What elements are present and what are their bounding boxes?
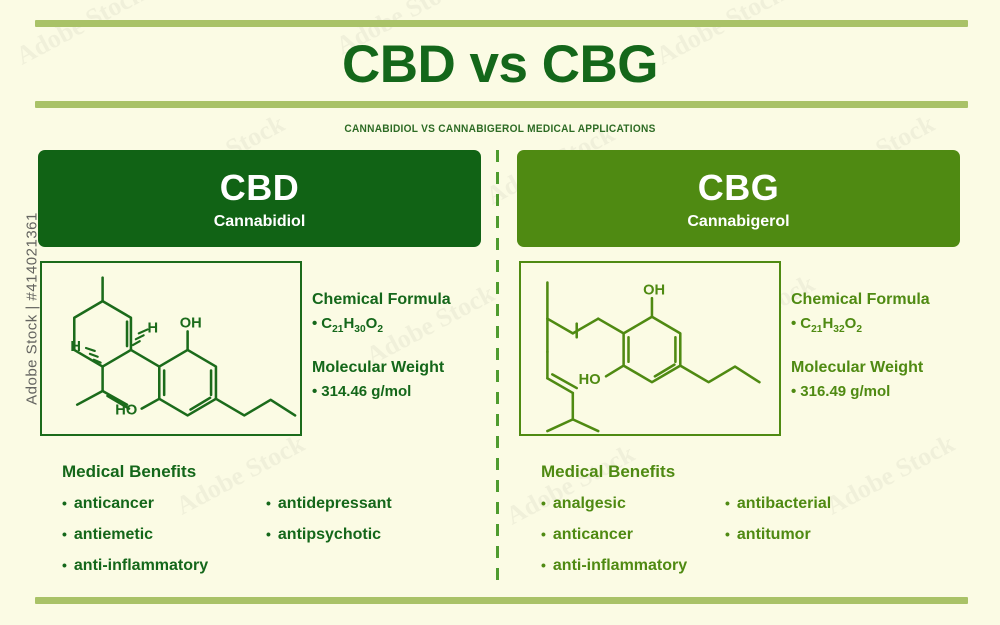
cbd-structure-box: OH HO H H xyxy=(40,261,302,436)
cbg-abbreviation: CBG xyxy=(517,167,960,209)
cbg-benefits-heading: Medical Benefits xyxy=(541,460,960,484)
cbd-benefits-heading: Medical Benefits xyxy=(62,460,481,484)
cbd-full-name: Cannabidiol xyxy=(38,211,481,233)
cbd-label-ho: HO xyxy=(115,402,137,418)
cbg-molecule-diagram: OH HO xyxy=(521,263,779,434)
bullet-icon: • xyxy=(725,526,730,542)
list-item: •anticancer xyxy=(62,488,208,519)
cbg-facts: Chemical Formula •C21H32O2 Molecular Wei… xyxy=(791,289,971,403)
cbg-full-name: Cannabigerol xyxy=(517,211,960,233)
cbg-label-ho: HO xyxy=(579,372,601,388)
stock-watermark-label: Adobe Stock | #414021361 xyxy=(24,199,41,419)
bullet-icon: • xyxy=(725,495,730,511)
cbd-label-h-2: H xyxy=(70,339,81,355)
infographic-page: Adobe Stock Adobe Stock Adobe Stock Adob… xyxy=(0,0,1000,625)
bullet-icon: • xyxy=(541,557,546,573)
cbg-weight-value: •316.49 g/mol xyxy=(791,381,971,403)
list-item: •antibacterial xyxy=(725,488,831,519)
cbd-weight-heading: Molecular Weight xyxy=(312,357,492,379)
cbd-structure-row: OH HO H H Chemical Formula •C21H30O2 Mol… xyxy=(38,261,481,436)
cbd-weight-value: •314.46 g/mol xyxy=(312,381,492,403)
bullet-icon: • xyxy=(266,495,271,511)
cbg-weight-heading: Molecular Weight xyxy=(791,357,971,379)
cbd-header-card: CBD Cannabidiol xyxy=(38,150,481,247)
cbg-structure-box: OH HO xyxy=(519,261,781,436)
cbg-structure-row: OH HO Chemical Formula •C21H32O2 Molecul… xyxy=(517,261,960,436)
cbg-benefits-column-b: •antibacterial •antitumor xyxy=(725,488,831,550)
bullet-icon: • xyxy=(791,315,796,332)
cbd-column: CBD Cannabidiol xyxy=(38,150,481,584)
cbd-abbreviation: CBD xyxy=(38,167,481,209)
list-item: •antidepressant xyxy=(266,488,392,519)
bullet-icon: • xyxy=(312,383,317,400)
top-divider-rule xyxy=(35,20,968,27)
cbd-facts: Chemical Formula •C21H30O2 Molecular Wei… xyxy=(312,289,492,403)
bullet-icon: • xyxy=(541,526,546,542)
bottom-divider-rule xyxy=(35,597,968,604)
page-title: CBD vs CBG xyxy=(0,34,1000,96)
cbd-benefits-column-a: •anticancer •antiemetic •anti-inflammato… xyxy=(62,488,208,581)
cbd-label-oh: OH xyxy=(180,315,202,331)
bullet-icon: • xyxy=(312,315,317,332)
cbg-header-card: CBG Cannabigerol xyxy=(517,150,960,247)
cbg-benefits-column-a: •analgesic •anticancer •anti-inflammator… xyxy=(541,488,687,581)
cbg-label-oh: OH xyxy=(643,282,665,298)
cbd-formula-heading: Chemical Formula xyxy=(312,289,492,311)
bullet-icon: • xyxy=(541,495,546,511)
title-divider-rule xyxy=(35,101,968,108)
cbd-molecule-diagram: OH HO H H xyxy=(42,263,300,434)
bullet-icon: • xyxy=(62,526,67,542)
list-item: •antitumor xyxy=(725,519,831,550)
list-item: •anticancer xyxy=(541,519,687,550)
vertical-dashed-divider xyxy=(496,150,499,587)
cbg-column: CBG Cannabigerol xyxy=(517,150,960,584)
list-item: •anti-inflammatory xyxy=(62,550,208,581)
cbd-label-h-1: H xyxy=(148,320,159,336)
list-item: •anti-inflammatory xyxy=(541,550,687,581)
cbd-benefits-column-b: •antidepressant •antipsychotic xyxy=(266,488,392,550)
page-subtitle: CANNABIDIOL VS CANNABIGEROL MEDICAL APPL… xyxy=(40,123,960,135)
cbd-benefits: Medical Benefits •anticancer •antiemetic… xyxy=(38,460,481,584)
list-item: •antiemetic xyxy=(62,519,208,550)
bullet-icon: • xyxy=(791,383,796,400)
cbd-formula-value: •C21H30O2 xyxy=(312,313,492,341)
bullet-icon: • xyxy=(266,526,271,542)
cbg-benefits: Medical Benefits •analgesic •anticancer … xyxy=(517,460,960,584)
cbg-formula-value: •C21H32O2 xyxy=(791,313,971,341)
bullet-icon: • xyxy=(62,557,67,573)
list-item: •antipsychotic xyxy=(266,519,392,550)
cbg-formula-heading: Chemical Formula xyxy=(791,289,971,311)
bullet-icon: • xyxy=(62,495,67,511)
list-item: •analgesic xyxy=(541,488,687,519)
